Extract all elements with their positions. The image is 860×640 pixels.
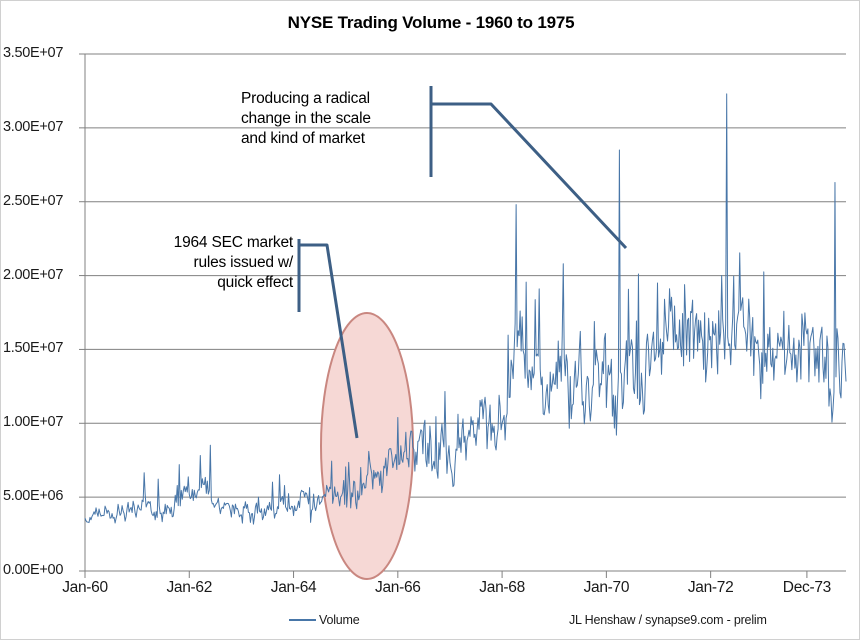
legend[interactable]: Volume	[289, 613, 360, 627]
y-axis-tick-label: 5.00E+06	[3, 488, 81, 504]
y-axis-tick: 3.00E+07	[3, 119, 81, 137]
y-axis-tick: 0.00E+00	[3, 562, 81, 580]
y-axis-tick: 3.50E+07	[3, 45, 81, 63]
x-axis-tick-label: Jan-62	[166, 579, 212, 597]
x-axis-tick-label: Jan-72	[688, 579, 734, 597]
gridlines	[85, 54, 846, 571]
x-axis-tick-label: Jan-60	[62, 579, 108, 597]
x-axis-tick-label: Jan-70	[584, 579, 630, 597]
y-axis-tick-label: 3.50E+07	[3, 45, 81, 61]
x-axis-tick-label: Jan-66	[375, 579, 421, 597]
y-axis-tick: 1.00E+07	[3, 414, 81, 432]
x-axis-tick-marks	[85, 571, 807, 578]
y-axis-tick: 5.00E+06	[3, 488, 81, 506]
y-axis-tick: 1.50E+07	[3, 340, 81, 358]
legend-swatch-volume	[289, 619, 316, 621]
y-axis-tick-label: 1.00E+07	[3, 414, 81, 430]
x-axis-tick-label: Dec-73	[783, 579, 831, 597]
y-axis-tick: 2.50E+07	[3, 193, 81, 211]
y-axis-tick-label: 2.50E+07	[3, 193, 81, 209]
annotation-sec-market-rules: 1964 SEC market rules issued w/ quick ef…	[111, 233, 293, 293]
highlight-ellipse	[321, 313, 413, 579]
legend-label-volume: Volume	[319, 613, 360, 627]
annotation-producing-radical-change: Producing a radical change in the scale …	[241, 89, 433, 149]
y-axis-tick-label: 2.00E+07	[3, 267, 81, 283]
credit-text: JL Henshaw / synapse9.com - prelim	[569, 613, 767, 627]
y-axis-tick-label: 0.00E+00	[3, 562, 81, 578]
chart-container: NYSE Trading Volume - 1960 to 1975 0.00E…	[0, 0, 860, 640]
y-axis-tick: 2.00E+07	[3, 267, 81, 285]
y-axis-tick-label: 3.00E+07	[3, 119, 81, 135]
x-axis-tick-label: Jan-64	[271, 579, 317, 597]
volume-series-line	[85, 94, 846, 524]
x-axis-tick-label: Jan-68	[479, 579, 525, 597]
y-axis-tick-label: 1.50E+07	[3, 340, 81, 356]
